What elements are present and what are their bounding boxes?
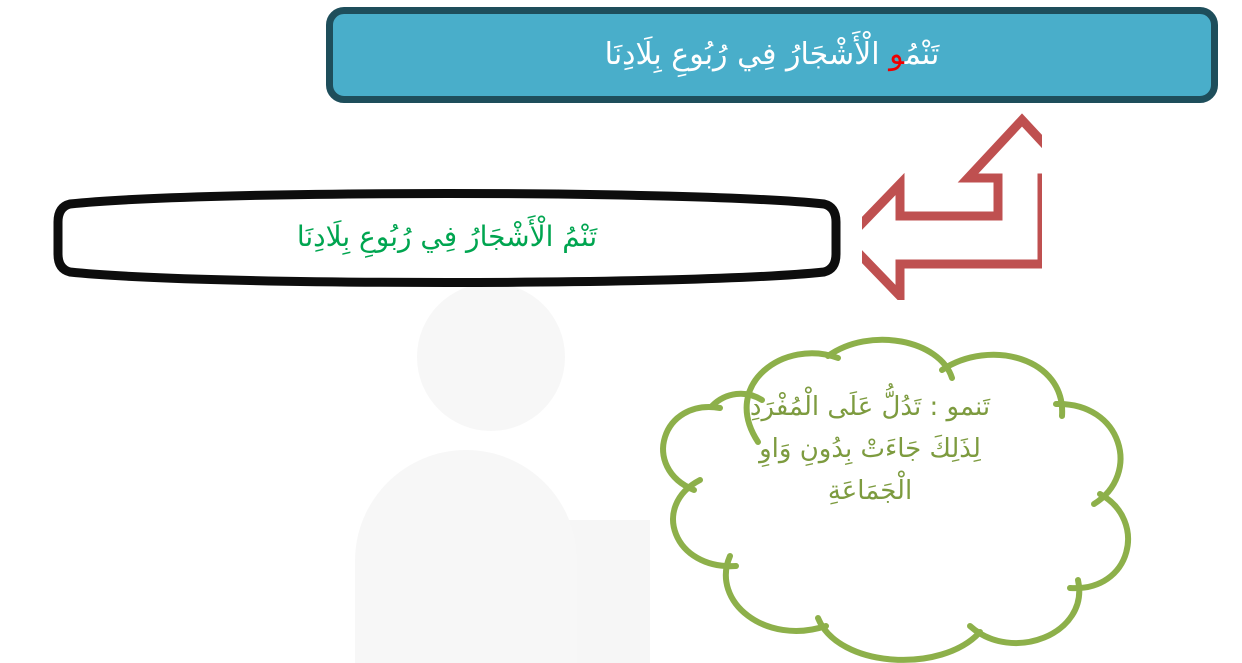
original-sentence-text: تَنْمُو الْأَشْجَارُ فِي رُبُوعِ بِلَادِ… xyxy=(605,35,940,76)
bent-arrow-up-left-icon xyxy=(862,108,1042,300)
corrected-sentence-ribbon: تَنْمُ الْأَشْجَارُ فِي رُبُوعِ بِلَادِن… xyxy=(42,182,852,294)
original-sentence-banner: تَنْمُو الْأَشْجَارُ فِي رُبُوعِ بِلَادِ… xyxy=(326,7,1218,103)
explanation-line-3: الْجَمَاعَةِ xyxy=(640,470,1100,512)
slide-canvas: تَنْمُو الْأَشْجَارُ فِي رُبُوعِ بِلَادِ… xyxy=(0,0,1242,663)
explanation-line-1: تَنمو : تَدُلُّ عَلَى الْمُفْرَدِ xyxy=(640,386,1100,428)
explanation-line-2: لِذَلِكَ جَاءَتْ بِدُونِ وَاوِ xyxy=(640,428,1100,470)
person-silhouette-body-icon xyxy=(355,450,577,663)
explanation-cloud: تَنمو : تَدُلُّ عَلَى الْمُفْرَدِ لِذَلِ… xyxy=(570,334,1170,663)
highlighted-waw-letter: و xyxy=(889,37,905,72)
explanation-text: تَنمو : تَدُلُّ عَلَى الْمُفْرَدِ لِذَلِ… xyxy=(640,386,1100,512)
person-silhouette-head-icon xyxy=(417,283,565,431)
sentence-prefix: تَنْمُ xyxy=(905,37,940,72)
sentence-suffix: الْأَشْجَارُ فِي رُبُوعِ بِلَادِنَا xyxy=(605,37,889,72)
corrected-sentence-text: تَنْمُ الْأَشْجَارُ فِي رُبُوعِ بِلَادِن… xyxy=(42,182,852,294)
